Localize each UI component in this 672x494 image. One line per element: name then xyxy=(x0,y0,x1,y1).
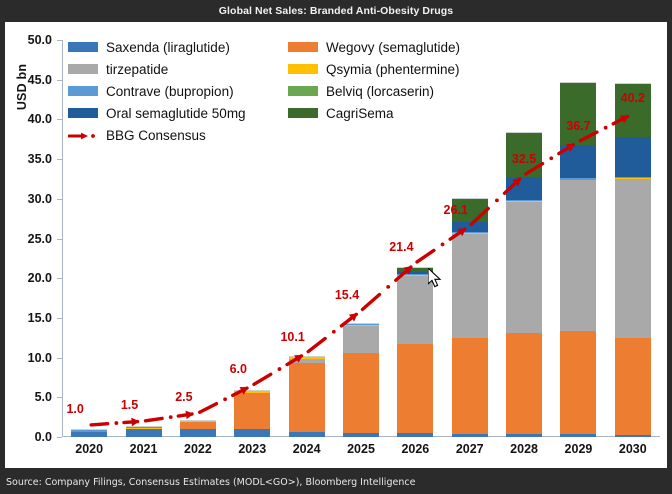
legend-column-left: Saxenda (liraglutide)tirzepatideContrave… xyxy=(68,36,246,146)
legend-color-swatch xyxy=(68,42,98,52)
consensus-line-dot xyxy=(114,421,118,425)
consensus-value-label: 36.7 xyxy=(548,119,608,133)
chart-figure: USD bn 0.05.010.015.020.025.030.035.040.… xyxy=(5,22,667,468)
consensus-value-label: 2.5 xyxy=(154,390,214,404)
legend-item[interactable]: Wegovy (semaglutide) xyxy=(288,36,460,58)
legend-item-label: Wegovy (semaglutide) xyxy=(326,40,460,55)
legend-item-label: Oral semaglutide 50mg xyxy=(106,106,246,121)
legend-color-swatch xyxy=(68,64,98,74)
legend-item-label: BBG Consensus xyxy=(106,128,206,143)
legend-item-label: Belviq (lorcaserin) xyxy=(326,84,434,99)
consensus-line-arrowhead xyxy=(131,418,139,427)
legend-item-label: Contrave (bupropion) xyxy=(106,84,234,99)
consensus-value-label: 26.1 xyxy=(426,203,486,217)
consensus-value-label: 1.0 xyxy=(45,402,105,416)
source-note: Source: Company Filings, Consensus Estim… xyxy=(0,477,415,488)
consensus-value-label: 15.4 xyxy=(317,288,377,302)
consensus-line-dot xyxy=(386,285,390,289)
legend-item-label: tirzepatide xyxy=(106,62,168,77)
legend-item[interactable]: Oral semaglutide 50mg xyxy=(68,102,246,124)
consensus-value-label: 40.2 xyxy=(603,91,663,105)
legend-color-swatch xyxy=(288,42,318,52)
consensus-value-label: 6.0 xyxy=(208,362,268,376)
legend-item[interactable]: BBG Consensus xyxy=(68,124,246,146)
legend-color-swatch xyxy=(288,64,318,74)
legend-item-label: Saxenda (liraglutide) xyxy=(106,40,230,55)
legend-item-label: CagriSema xyxy=(326,106,394,121)
consensus-line-dot xyxy=(441,243,445,247)
legend-item[interactable]: Saxenda (liraglutide) xyxy=(68,36,246,58)
legend-color-swatch xyxy=(288,86,318,96)
legend-color-swatch xyxy=(288,108,318,118)
legend-item[interactable]: Belviq (lorcaserin) xyxy=(288,80,460,102)
legend-color-swatch xyxy=(68,86,98,96)
legend-item[interactable]: tirzepatide xyxy=(68,58,246,80)
page-title: Global Net Sales: Branded Anti-Obesity D… xyxy=(219,5,453,17)
consensus-line-dash xyxy=(200,404,217,413)
legend-item[interactable]: Contrave (bupropion) xyxy=(68,80,246,102)
consensus-value-label: 32.5 xyxy=(494,152,554,166)
legend-color-swatch xyxy=(68,108,98,118)
legend-item-label: Qsymia (phentermine) xyxy=(326,62,460,77)
consensus-line-dot xyxy=(495,198,499,202)
line-marker-icon xyxy=(68,129,98,141)
legend-column-right: Wegovy (semaglutide)Qsymia (phentermine)… xyxy=(288,36,460,124)
consensus-value-label: 10.1 xyxy=(263,330,323,344)
consensus-line-dot xyxy=(278,367,282,371)
consensus-line-dot xyxy=(332,330,336,334)
consensus-value-label: 21.4 xyxy=(371,240,431,254)
consensus-line-dash xyxy=(146,418,163,420)
consensus-value-label: 1.5 xyxy=(100,398,160,412)
consensus-line-dash xyxy=(91,424,107,425)
consensus-line-dot xyxy=(223,397,227,401)
legend-item[interactable]: Qsymia (phentermine) xyxy=(288,58,460,80)
title-bar: Global Net Sales: Branded Anti-Obesity D… xyxy=(0,0,672,22)
legend-item[interactable]: CagriSema xyxy=(288,102,460,124)
consensus-line-dash xyxy=(580,132,597,141)
chart-window: Global Net Sales: Branded Anti-Obesity D… xyxy=(0,0,672,494)
footer-bar: Source: Company Filings, Consensus Estim… xyxy=(0,470,672,494)
consensus-line-dot xyxy=(169,415,173,419)
